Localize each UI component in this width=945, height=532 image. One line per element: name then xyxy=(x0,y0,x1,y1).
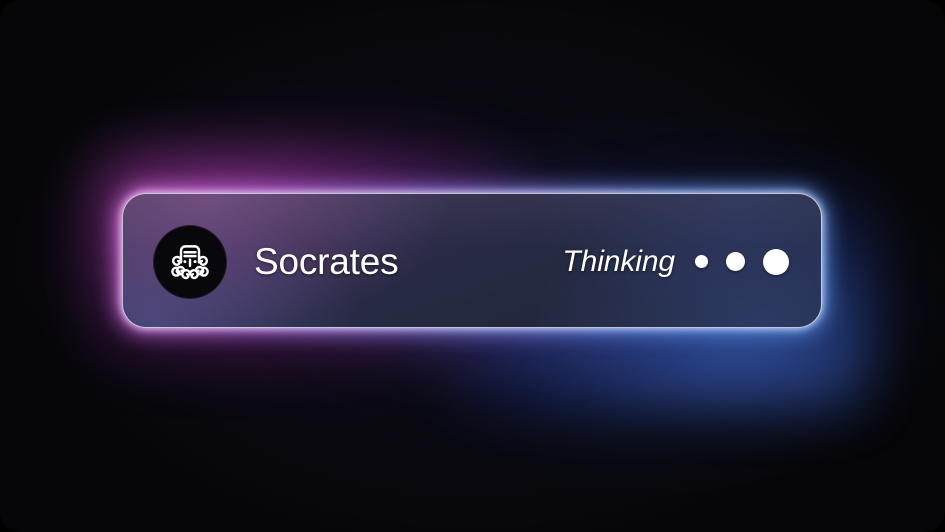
thinking-dot-large xyxy=(763,249,789,275)
socrates-face-icon xyxy=(165,237,215,287)
thinking-dot-medium xyxy=(726,252,745,271)
thinking-dots-indicator xyxy=(695,249,789,275)
agent-status-card[interactable]: Socrates Thinking xyxy=(122,193,822,328)
status-label: Thinking xyxy=(562,245,675,279)
thinking-dot-small xyxy=(695,255,708,268)
agent-status-area: Thinking xyxy=(562,194,789,328)
agent-name-label: Socrates xyxy=(254,194,398,328)
socrates-avatar[interactable] xyxy=(154,226,226,298)
screen-root: Socrates Thinking xyxy=(0,0,945,532)
